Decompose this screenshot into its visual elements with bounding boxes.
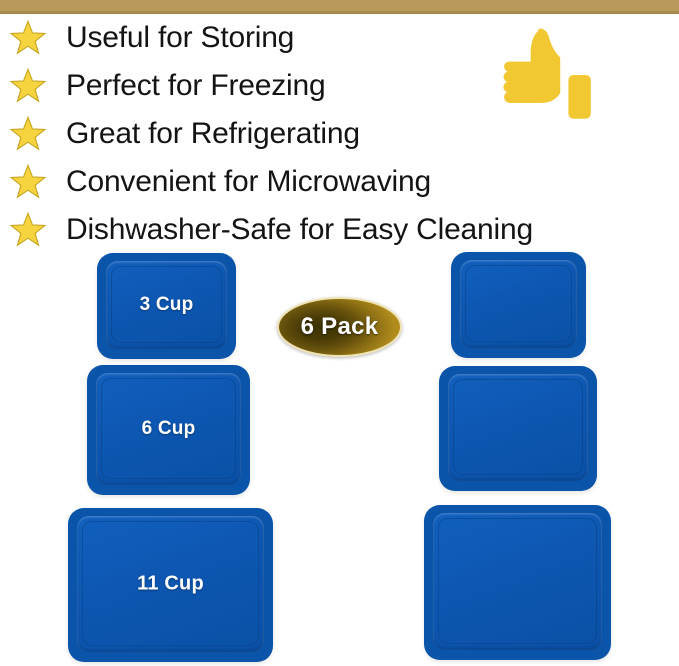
container-lid-11-cup: 11 Cup <box>68 508 273 662</box>
star-icon <box>9 19 47 57</box>
container-lid-large-duplicate <box>424 505 611 660</box>
lid-size-label: 11 Cup <box>77 573 264 596</box>
container-lid-small-duplicate <box>451 252 586 358</box>
lid-inner-surface <box>448 374 588 481</box>
lid-inner-surface: 6 Cup <box>96 373 241 485</box>
product-feature-image: Useful for Storing Perfect for Freezing … <box>0 0 679 666</box>
lid-inner-surface: 3 Cup <box>106 261 227 349</box>
star-icon <box>9 115 47 153</box>
lid-groove <box>465 265 572 342</box>
lid-inner-surface <box>433 513 602 650</box>
feature-list-item-label: Perfect for Freezing <box>66 71 325 101</box>
feature-list-item-label: Dishwasher-Safe for Easy Cleaning <box>66 215 533 245</box>
lid-inner-surface: 11 Cup <box>77 516 264 652</box>
star-icon <box>9 67 47 105</box>
container-lid-3-cup: 3 Cup <box>97 253 236 359</box>
lid-groove <box>438 518 597 644</box>
feature-list-item-label: Convenient for Microwaving <box>66 167 431 197</box>
lid-size-label: 3 Cup <box>106 294 227 316</box>
feature-list-item: Dishwasher-Safe for Easy Cleaning <box>0 206 620 254</box>
lid-size-label: 6 Cup <box>96 418 241 440</box>
feature-list-item-label: Useful for Storing <box>66 23 294 53</box>
container-lid-6-cup: 6 Cup <box>87 365 250 495</box>
lid-inner-surface <box>460 260 577 348</box>
lid-groove <box>453 379 583 475</box>
top-accent-bar <box>0 0 679 11</box>
feature-list-item-label: Great for Refrigerating <box>66 119 360 149</box>
pack-count-badge: 6 Pack <box>277 297 402 357</box>
pack-count-label: 6 Pack <box>301 313 379 341</box>
thumbs-up-icon <box>497 27 599 129</box>
star-icon <box>9 211 47 249</box>
container-lid-medium-duplicate <box>439 366 597 491</box>
feature-list-item: Convenient for Microwaving <box>0 158 620 206</box>
star-icon <box>9 163 47 201</box>
